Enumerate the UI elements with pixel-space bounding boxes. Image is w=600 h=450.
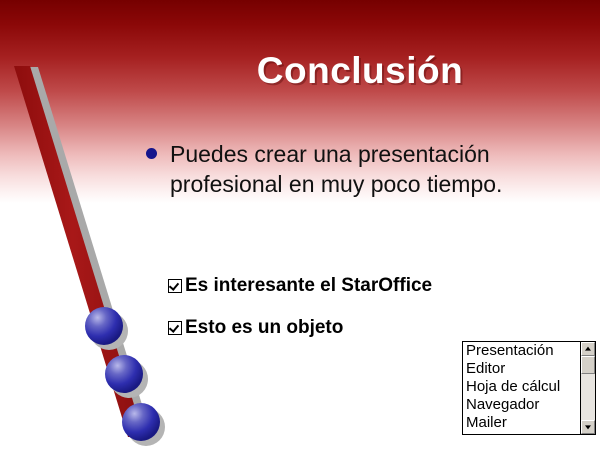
scrollbar-track[interactable] — [581, 356, 595, 420]
slide-title: Conclusión — [150, 50, 570, 92]
scrollbar-thumb[interactable] — [581, 356, 595, 374]
embedded-listbox[interactable]: Presentación Editor Hoja de cálcul Naveg… — [462, 341, 596, 435]
checkbox-checked-icon[interactable] — [168, 321, 182, 335]
presentation-slide: Conclusión Puedes crear una presentación… — [0, 0, 600, 450]
checklist-item[interactable]: Esto es un objeto — [168, 318, 343, 338]
bullet-dot-icon — [146, 148, 157, 159]
list-item[interactable]: Editor — [466, 360, 580, 378]
checklist-item-label: Es interesante el StarOffice — [185, 276, 432, 296]
list-item[interactable]: Hoja de cálcul — [466, 378, 580, 396]
scroll-up-arrow-icon[interactable] — [581, 342, 595, 356]
checklist-item-label: Esto es un objeto — [185, 318, 343, 338]
bullet-list: Puedes crear una presentación profesiona… — [146, 139, 566, 199]
scroll-down-arrow-glyph — [585, 425, 591, 429]
scroll-up-arrow-glyph — [585, 347, 591, 351]
list-item[interactable]: Presentación — [466, 342, 580, 360]
listbox-scrollbar[interactable] — [580, 342, 595, 434]
scroll-down-arrow-icon[interactable] — [581, 420, 595, 434]
checklist-item[interactable]: Es interesante el StarOffice — [168, 276, 432, 296]
checkbox-checked-icon[interactable] — [168, 279, 182, 293]
listbox-items[interactable]: Presentación Editor Hoja de cálcul Naveg… — [463, 342, 580, 434]
list-item[interactable]: Navegador — [466, 396, 580, 414]
bullet-item-text: Puedes crear una presentación profesiona… — [170, 139, 530, 199]
list-item[interactable]: Mailer — [466, 414, 580, 432]
